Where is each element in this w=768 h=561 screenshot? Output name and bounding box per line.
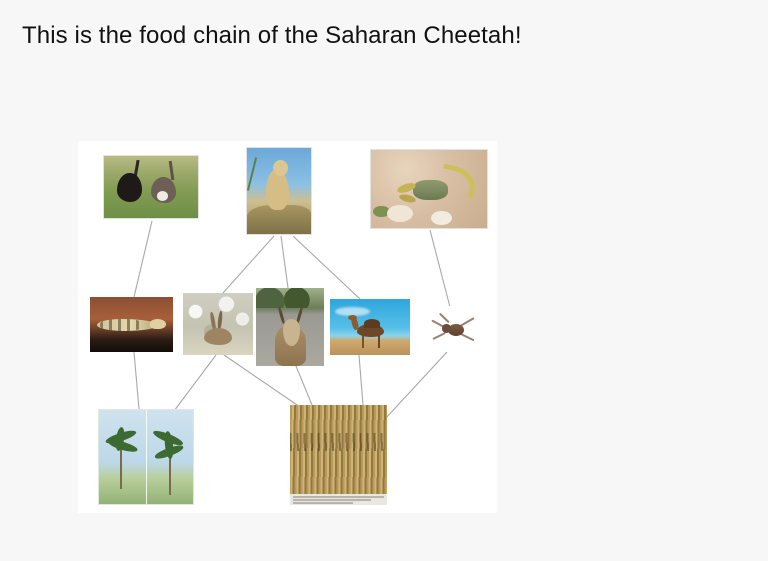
lizard-head-icon bbox=[150, 319, 167, 329]
link-cricket-grass bbox=[385, 352, 447, 419]
node-grass[interactable] bbox=[290, 405, 387, 505]
antelope-photo bbox=[256, 288, 324, 366]
cricket-antenna-icon bbox=[439, 313, 449, 323]
grass-caption-strip bbox=[290, 494, 387, 505]
antelope-face-icon bbox=[283, 319, 299, 346]
slide: This is the food chain of the Saharan Ch… bbox=[0, 0, 768, 561]
node-scorpion[interactable] bbox=[370, 149, 488, 229]
food-web-diagram bbox=[78, 141, 497, 513]
ostrich-tail-icon bbox=[157, 191, 168, 201]
link-cheetah-antelope bbox=[281, 236, 288, 288]
camel-photo bbox=[330, 299, 410, 355]
camel-hump-icon bbox=[364, 319, 380, 328]
link-lizard-palms bbox=[134, 352, 139, 409]
caption-text-line bbox=[293, 499, 371, 501]
ostrich-photo bbox=[104, 156, 198, 218]
node-ostrich[interactable] bbox=[103, 155, 199, 219]
cricket-leg-icon bbox=[460, 333, 475, 341]
link-scorpion-cricket bbox=[430, 230, 450, 307]
node-palms[interactable] bbox=[98, 409, 194, 505]
cricket-leg-icon bbox=[460, 317, 475, 326]
tree-line-icon bbox=[256, 288, 324, 308]
node-antelope[interactable] bbox=[256, 288, 324, 366]
node-camel[interactable] bbox=[330, 299, 410, 355]
cheetah-photo bbox=[247, 148, 311, 234]
grass-photo bbox=[290, 405, 387, 505]
pebble-icon bbox=[431, 211, 452, 225]
link-cheetah-hare bbox=[223, 236, 274, 293]
panel-divider bbox=[146, 410, 147, 504]
node-lizard[interactable] bbox=[90, 297, 173, 352]
palms-photo bbox=[99, 410, 193, 504]
ostrich-neck-icon bbox=[169, 161, 175, 180]
pebble-icon bbox=[387, 205, 413, 222]
link-camel-grass bbox=[359, 355, 363, 405]
cricket-head-icon bbox=[442, 324, 451, 332]
ostrich-body-icon bbox=[117, 173, 141, 202]
node-cricket[interactable] bbox=[426, 306, 480, 352]
lizard-bands-icon bbox=[100, 319, 143, 331]
camel-head-icon bbox=[348, 315, 358, 321]
caption-text-line bbox=[293, 496, 384, 498]
node-cheetah[interactable] bbox=[246, 147, 312, 235]
caption-text-line bbox=[293, 502, 353, 504]
page-title: This is the food chain of the Saharan Ch… bbox=[22, 22, 522, 50]
link-ostrich-lizard bbox=[134, 221, 152, 297]
link-antelope-grass bbox=[296, 366, 312, 405]
lizard-photo bbox=[90, 297, 173, 352]
camel-leg-icon bbox=[362, 335, 364, 348]
palm-trunk-icon bbox=[120, 449, 122, 488]
hare-body-icon bbox=[204, 328, 232, 345]
cricket-photo bbox=[426, 306, 480, 352]
scorpion-body-icon bbox=[413, 180, 448, 200]
grass-shadow-band bbox=[290, 433, 387, 451]
node-hare[interactable] bbox=[183, 293, 253, 355]
hare-photo bbox=[183, 293, 253, 355]
cheetah-head-icon bbox=[273, 160, 288, 176]
link-hare-palms bbox=[174, 355, 216, 411]
camel-leg-icon bbox=[378, 335, 380, 348]
palm-trunk-icon bbox=[169, 457, 171, 495]
scorpion-photo bbox=[371, 150, 487, 228]
branch-icon bbox=[247, 157, 257, 191]
